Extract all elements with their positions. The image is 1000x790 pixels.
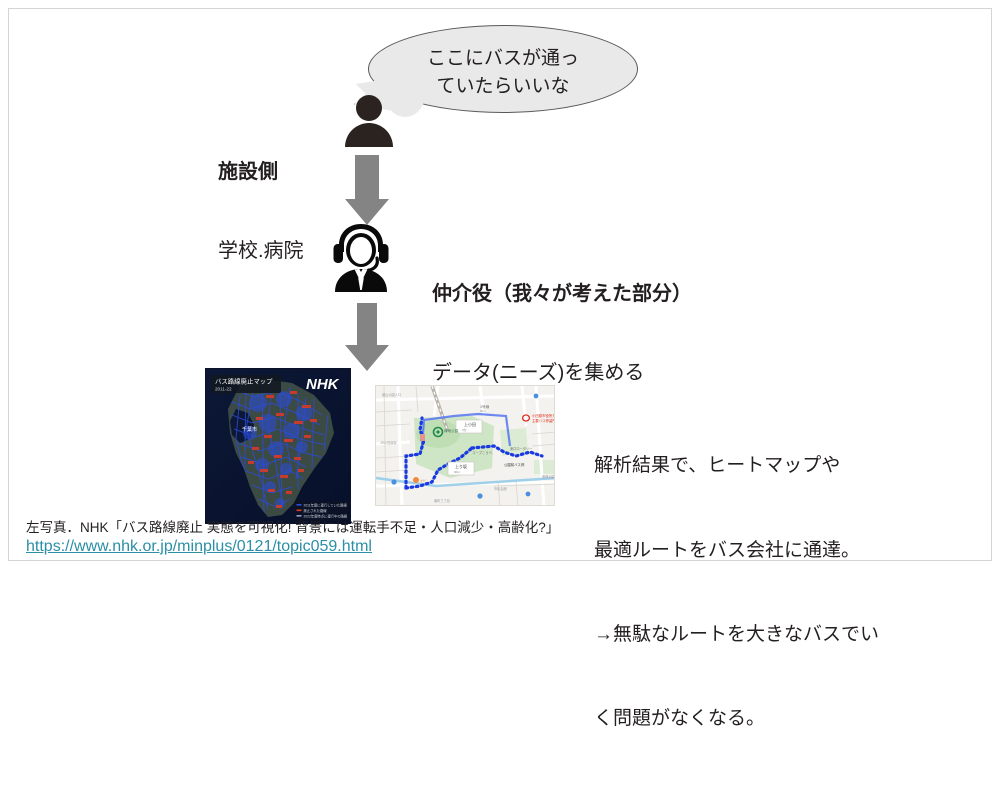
nhk-map-subtitle: 2011-22 bbox=[215, 387, 232, 392]
nhk-logo: NHK bbox=[306, 376, 340, 393]
headset-operator-icon bbox=[330, 222, 392, 294]
svg-text:廃止された路線: 廃止された路線 bbox=[304, 508, 328, 513]
svg-text:ナビ: ナビ bbox=[420, 478, 426, 483]
mediator-line-2: データ(ニーズ)を集める bbox=[432, 360, 692, 386]
svg-text:東西公園: 東西公園 bbox=[542, 474, 555, 479]
nhk-map-place-label: 千葉市 bbox=[242, 426, 257, 433]
mediator-title: 仲介役（我々が考えた部分） bbox=[432, 281, 692, 307]
speech-bubble-line-2: ていたらいいな bbox=[368, 73, 638, 101]
down-arrow-icon bbox=[339, 155, 395, 227]
speech-bubble-line-1: ここにバスが通っ bbox=[368, 45, 638, 73]
svg-text:2022年度時点に運行中の路線: 2022年度時点に運行中の路線 bbox=[304, 513, 348, 518]
facility-subtitle: 学校.病院 bbox=[218, 238, 304, 264]
result-text-block: 解析結果で、ヒートマップや 最適ルートをバス会社に通達。 →無駄なルートを大きな… bbox=[594, 396, 879, 790]
arrow-shaft bbox=[357, 303, 377, 349]
footer-caption: 左写真．NHK「バス路線廃止 実態を可視化! 背景には運転手不足・人口減少・高齢… bbox=[26, 519, 559, 537]
result-line-4: く問題がなくなる。 bbox=[594, 705, 879, 733]
svg-text:6分: 6分 bbox=[462, 427, 467, 432]
arrow-shaft bbox=[355, 155, 379, 203]
route-map-label-b: 上り坂 bbox=[455, 463, 467, 469]
route-map-label-a: 上小田 bbox=[464, 421, 476, 427]
svg-text:コープこうべ: コープこうべ bbox=[472, 450, 493, 455]
svg-text:城山公園入口: 城山公園入口 bbox=[382, 392, 401, 397]
route-map-label-c: 公園前バス停 bbox=[504, 462, 525, 467]
speech-bubble: ここにバスが通っ ていたらいいな bbox=[368, 25, 638, 113]
down-arrow-icon-2 bbox=[341, 303, 393, 373]
optimal-route-map-image: 小田原市役所方面 主要バス停留所 上小田 6分 上り坂 90m 1号線 8km … bbox=[375, 385, 555, 506]
result-line-3: →無駄なルートを大きなバスでい bbox=[594, 621, 879, 649]
svg-text:東口ロータリー: 東口ロータリー bbox=[510, 446, 532, 451]
result-line-1: 解析結果で、ヒートマップや bbox=[594, 452, 879, 480]
person-icon bbox=[345, 95, 393, 147]
nhk-busroute-map-image: バス路線廃止マップ 2011-22 NHK 千葉市 2011年度に運行していた路… bbox=[205, 368, 351, 524]
speech-bubble-text: ここにバスが通っ ていたらいいな bbox=[368, 45, 638, 100]
route-map-alert-label: 小田原市役所方面 bbox=[532, 413, 555, 418]
svg-text:90m: 90m bbox=[454, 470, 460, 474]
svg-text:南町三丁目: 南町三丁目 bbox=[434, 498, 450, 503]
svg-text:2011年度に運行していた路線: 2011年度に運行していた路線 bbox=[304, 502, 348, 507]
slide-canvas: ここにバスが通っ ていたらいいな 施設側 学校.病院 bbox=[0, 0, 1000, 569]
footer-source-link[interactable]: https://www.nhk.or.jp/minplus/0121/topic… bbox=[26, 536, 372, 557]
nhk-map-title: バス路線廃止マップ bbox=[215, 377, 273, 386]
facility-label: 施設側 学校.病院 bbox=[218, 106, 304, 317]
svg-text:JR小田原駅: JR小田原駅 bbox=[380, 440, 397, 445]
svg-text:市民会館: 市民会館 bbox=[494, 486, 507, 491]
svg-text:主要バス停留所: 主要バス停留所 bbox=[532, 418, 555, 423]
arrow-head bbox=[345, 345, 389, 371]
route-map-label-e: 緑地公園 bbox=[444, 428, 459, 433]
svg-text:8km: 8km bbox=[480, 409, 486, 413]
result-line-2: 最適ルートをバス会社に通達。 bbox=[594, 537, 879, 565]
facility-title: 施設側 bbox=[218, 159, 304, 185]
person-body-shape bbox=[345, 123, 393, 147]
